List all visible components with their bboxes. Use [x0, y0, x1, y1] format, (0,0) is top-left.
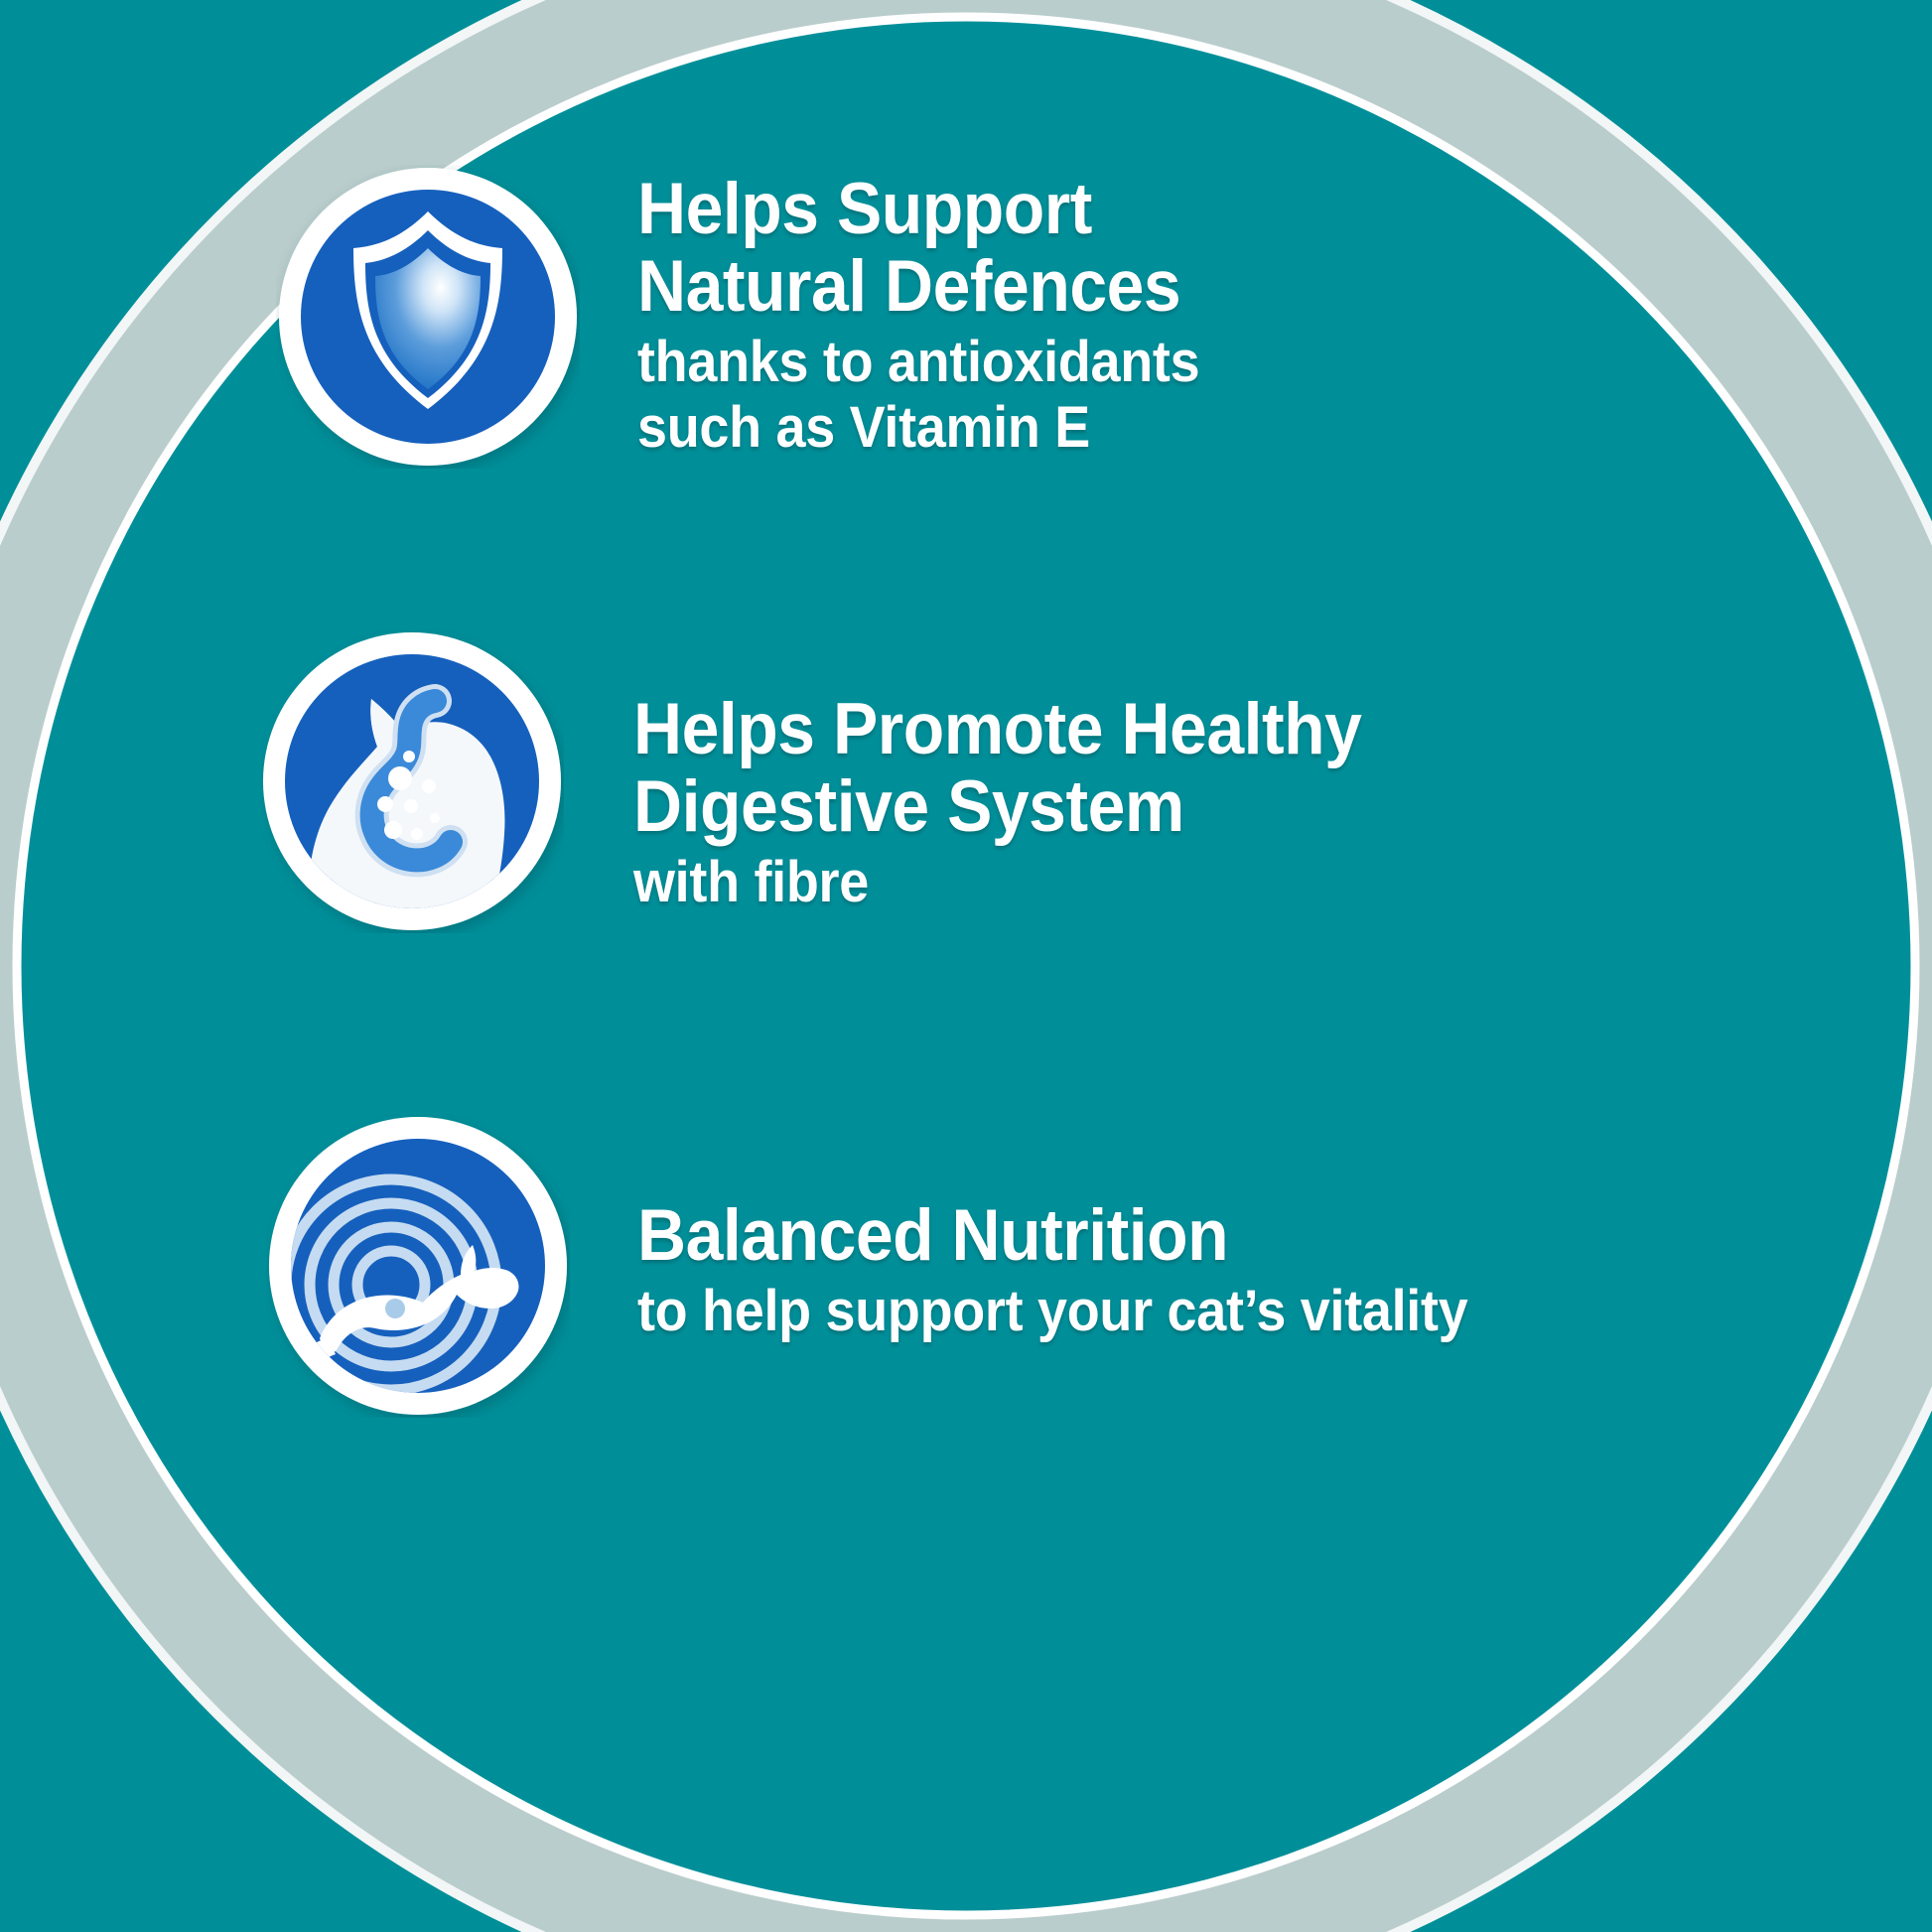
cat-vitality-waves-icon-badge	[266, 1114, 570, 1418]
feature-text-digestive-system: Helps Promote Healthy Digestive System w…	[633, 629, 1417, 915]
feature-row-balanced-nutrition: Balanced Nutrition to help support your …	[266, 1114, 1530, 1418]
cat-digestive-system-icon	[260, 629, 564, 933]
feature-headline: Helps Promote Healthy Digestive System	[633, 691, 1361, 846]
feature-text-natural-defences: Helps Support Natural Defences thanks to…	[637, 165, 1242, 461]
features-list: Helps Support Natural Defences thanks to…	[0, 0, 1932, 1932]
shield-icon-badge	[276, 165, 580, 469]
cat-digestive-system-icon-badge	[260, 629, 564, 933]
shield-icon	[276, 165, 580, 469]
feature-headline: Helps Support Natural Defences	[637, 171, 1199, 326]
feature-headline: Balanced Nutrition	[637, 1197, 1467, 1275]
feature-subline: with fibre	[633, 850, 1361, 915]
feature-row-natural-defences: Helps Support Natural Defences thanks to…	[276, 165, 1242, 469]
feature-text-balanced-nutrition: Balanced Nutrition to help support your …	[637, 1114, 1530, 1344]
feature-subline: thanks to antioxidants such as Vitamin E	[637, 330, 1199, 461]
cat-vitality-waves-icon	[266, 1114, 570, 1418]
feature-row-digestive-system: Helps Promote Healthy Digestive System w…	[260, 629, 1417, 933]
feature-subline: to help support your cat’s vitality	[637, 1279, 1467, 1344]
